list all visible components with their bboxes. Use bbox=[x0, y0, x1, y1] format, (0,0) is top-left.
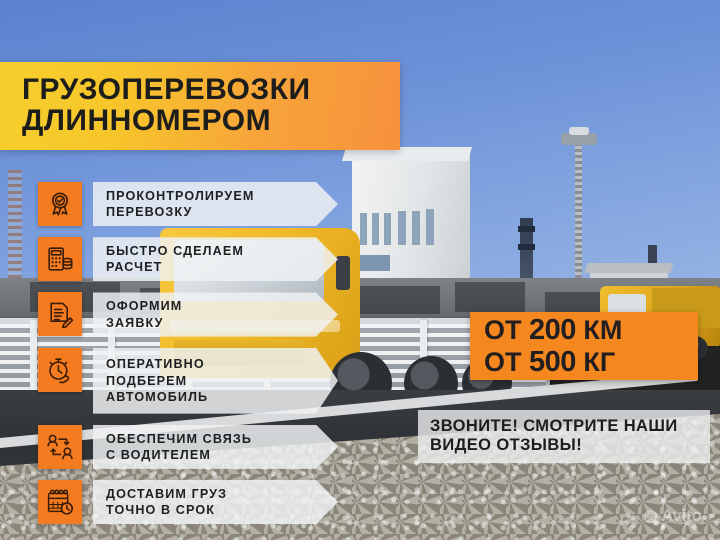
lattice-tower bbox=[8, 170, 22, 290]
price-distance-prefix: ОТ bbox=[484, 315, 522, 345]
award-medal-icon bbox=[38, 182, 82, 226]
feature-line-3: АВТОМОБИЛЬ bbox=[106, 389, 312, 405]
advertisement-image: ГРУЗОПЕРЕВОЗКИ ДЛИННОМЕРОМ ПРОКОНТРОЛИРУ… bbox=[0, 0, 720, 540]
feature-list: ПРОКОНТРОЛИРУЕМ ПЕРЕВОЗКУ bbox=[38, 182, 338, 535]
feature-text: ПРОКОНТРОЛИРУЕМ ПЕРЕВОЗКУ bbox=[93, 182, 338, 226]
avito-watermark: Avito bbox=[644, 506, 702, 526]
light-mast bbox=[575, 143, 582, 291]
feature-item: ПРОКОНТРОЛИРУЕМ ПЕРЕВОЗКУ bbox=[38, 182, 338, 226]
call-to-action: ЗВОНИТЕ! СМОТРИТЕ НАШИ ВИДЕО ОТЗЫВЫ! bbox=[418, 410, 710, 463]
price-weight: ОТ 500 КГ bbox=[484, 346, 698, 378]
feature-line-1: ДОСТАВИМ ГРУЗ bbox=[106, 486, 312, 502]
price-distance-unit: КМ bbox=[583, 315, 622, 345]
feature-text: ОФОРМИМ ЗАЯВКУ bbox=[93, 292, 338, 336]
avito-watermark-text: Avito bbox=[661, 506, 702, 526]
price-box: ОТ 200 КМ ОТ 500 КГ bbox=[470, 312, 698, 380]
feature-line-2: ПЕРЕВОЗКУ bbox=[106, 204, 312, 220]
price-weight-prefix: ОТ bbox=[484, 347, 522, 377]
calendar-clock-icon bbox=[38, 480, 82, 524]
feature-line-1: ОБЕСПЕЧИМ СВЯЗЬ bbox=[106, 431, 312, 447]
cta-line-1: ЗВОНИТЕ! СМОТРИТЕ НАШИ bbox=[430, 417, 700, 436]
feature-line-2: ЗАЯВКУ bbox=[106, 315, 312, 331]
feature-item: ОБЕСПЕЧИМ СВЯЗЬ С ВОДИТЕЛЕМ bbox=[38, 425, 338, 469]
feature-item: ДОСТАВИМ ГРУЗ ТОЧНО В СРОК bbox=[38, 480, 338, 524]
feature-item: БЫСТРО СДЕЛАЕМ РАСЧЕТ bbox=[38, 237, 338, 281]
feature-item: ОПЕРАТИВНО ПОДБЕРЕМ АВТОМОБИЛЬ bbox=[38, 348, 338, 414]
title-banner: ГРУЗОПЕРЕВОЗКИ ДЛИННОМЕРОМ bbox=[0, 62, 400, 150]
feature-line-2: РАСЧЕТ bbox=[106, 259, 312, 275]
feature-line-1: ОПЕРАТИВНО bbox=[106, 356, 312, 372]
feature-line-2: ПОДБЕРЕМ bbox=[106, 373, 312, 389]
feature-line-1: БЫСТРО СДЕЛАЕМ bbox=[106, 243, 312, 259]
feature-text: БЫСТРО СДЕЛАЕМ РАСЧЕТ bbox=[93, 237, 338, 281]
feature-line-2: С ВОДИТЕЛЕМ bbox=[106, 447, 312, 463]
feature-text: ОБЕСПЕЧИМ СВЯЗЬ С ВОДИТЕЛЕМ bbox=[93, 425, 338, 469]
people-exchange-icon bbox=[38, 425, 82, 469]
price-weight-value: 500 bbox=[529, 346, 576, 378]
calculator-coins-icon bbox=[38, 237, 82, 281]
feature-line-2: ТОЧНО В СРОК bbox=[106, 502, 312, 518]
industrial-building bbox=[352, 155, 470, 280]
avito-logo-icon bbox=[644, 510, 657, 523]
price-weight-unit: КГ bbox=[583, 347, 615, 377]
cta-line-2: ВИДЕО ОТЗЫВЫ! bbox=[430, 436, 700, 455]
feature-text: ДОСТАВИМ ГРУЗ ТОЧНО В СРОК bbox=[93, 480, 338, 524]
document-pen-icon bbox=[38, 292, 82, 336]
title-line-1: ГРУЗОПЕРЕВОЗКИ bbox=[22, 75, 400, 106]
price-distance-value: 200 bbox=[529, 314, 576, 346]
feature-line-1: ОФОРМИМ bbox=[106, 298, 312, 314]
stopwatch-hand-icon bbox=[38, 348, 82, 392]
feature-text: ОПЕРАТИВНО ПОДБЕРЕМ АВТОМОБИЛЬ bbox=[93, 348, 338, 414]
title-line-2: ДЛИННОМЕРОМ bbox=[22, 106, 400, 137]
feature-line-1: ПРОКОНТРОЛИРУЕМ bbox=[106, 188, 312, 204]
feature-item: ОФОРМИМ ЗАЯВКУ bbox=[38, 292, 338, 336]
price-distance: ОТ 200 КМ bbox=[484, 314, 698, 346]
